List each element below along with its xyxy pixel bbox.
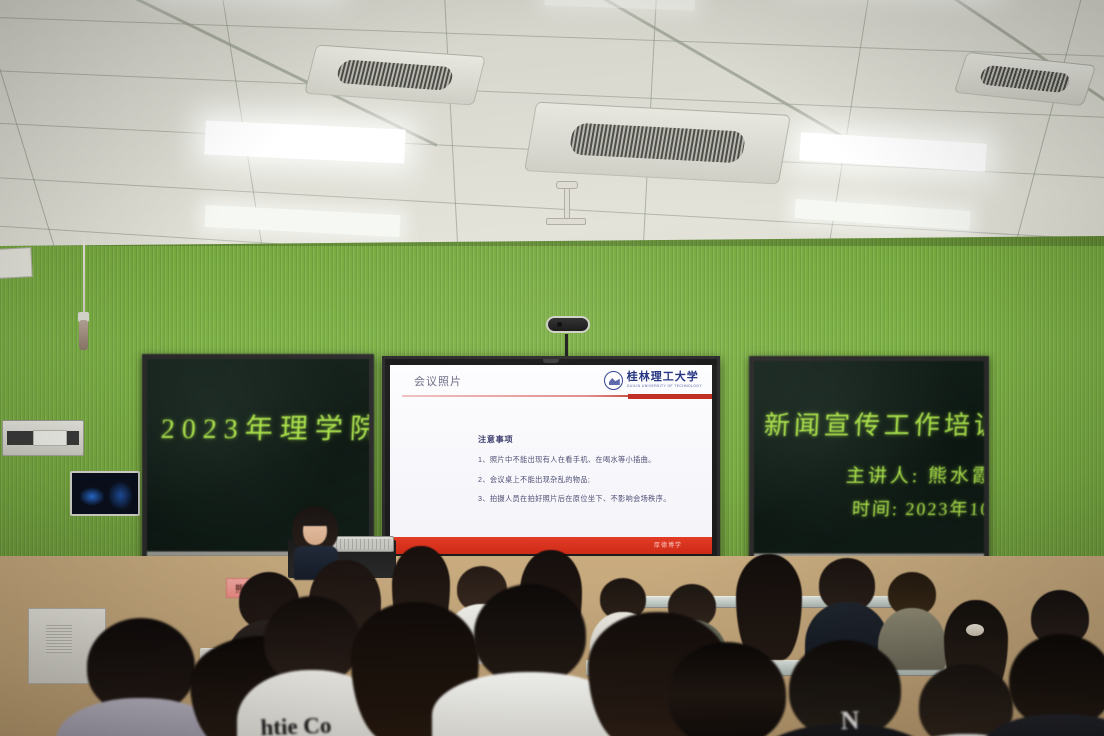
university-name-cn: 桂林理工大学	[627, 372, 702, 383]
hanging-microphone	[79, 320, 88, 350]
classroom-scene: 2023年理学院 会议照片 桂林理工大学 GUILIN UNIVERSITY O…	[0, 0, 1104, 736]
ceiling-light-panel	[795, 199, 971, 230]
tshirt-graphic-text: htie Co	[260, 713, 332, 736]
wall-camera	[546, 316, 590, 333]
ceiling-air-vent	[954, 52, 1097, 106]
projector-mount-pole	[564, 188, 570, 222]
camera-lens-icon	[557, 322, 562, 327]
blackboard-right-line1: 新闻宣传工作培训	[763, 405, 989, 442]
camera-stem	[565, 334, 568, 356]
tshirt-graphic-text: N	[840, 706, 860, 736]
hanging-microphone-cable	[83, 236, 85, 320]
monitor-glow	[79, 487, 105, 505]
university-seal-icon	[604, 371, 623, 390]
blackboard-right: 新闻宣传工作培训 主讲人: 熊水霞老师 时间: 2023年10月24日	[749, 356, 989, 568]
slide-footer-motto: 厚德博学	[654, 540, 682, 549]
ceiling-light-panel	[799, 132, 986, 172]
cabinet-vent	[46, 625, 72, 653]
ceiling-light-panel	[205, 205, 401, 237]
blackboard-left-text: 2023年理学院	[160, 407, 374, 447]
head	[474, 584, 586, 684]
monitor-glow	[108, 481, 133, 510]
projector-mount-plate	[546, 218, 586, 225]
slide-notice-block: 注意事项 1、照片中不能出现有人在看手机、在喝水等小插曲。 2、会议桌上不能出现…	[478, 433, 712, 515]
audience-member	[452, 584, 608, 736]
notice-heading: 注意事项	[478, 433, 712, 445]
screen-sensor-icon	[543, 359, 559, 363]
notice-item: 3、拍摄人员在拍好照片后在原位坐下、不影响会场秩序。	[478, 495, 712, 504]
control-panel-label	[33, 430, 67, 446]
blackboard-right-line3: 时间: 2023年10月24日	[851, 495, 989, 521]
university-logo: 桂林理工大学 GUILIN UNIVERSITY OF TECHNOLOGY	[604, 371, 702, 390]
hair-tie	[966, 624, 984, 636]
audience-member	[996, 634, 1104, 736]
notice-item: 1、照片中不能出现有人在看手机、在喝水等小插曲。	[478, 456, 712, 465]
university-name-en: GUILIN UNIVERSITY OF TECHNOLOGY	[627, 385, 702, 388]
presentation-slide: 会议照片 桂林理工大学 GUILIN UNIVERSITY OF TECHNOL…	[390, 365, 712, 554]
wall-control-panel[interactable]	[2, 420, 84, 456]
wall-mini-monitor[interactable]	[70, 471, 140, 516]
presenter-fringe	[300, 513, 330, 526]
ceiling-ac-cassette	[524, 102, 791, 185]
projection-screen: 会议照片 桂林理工大学 GUILIN UNIVERSITY OF TECHNOL…	[382, 356, 720, 562]
ceiling-air-vent	[304, 44, 486, 105]
blackboard-right-line2: 主讲人: 熊水霞老师	[845, 461, 989, 488]
audience-member	[76, 618, 206, 736]
wall-notice-plate	[0, 247, 33, 279]
projector-mount-bracket	[556, 181, 578, 189]
slide-divider-accent	[628, 394, 712, 399]
ceiling-light-panel	[204, 120, 405, 163]
shoulders	[982, 714, 1104, 736]
slide-header-title: 会议照片	[414, 373, 462, 389]
head	[668, 642, 786, 736]
notice-item: 2、会议桌上不能出现杂乱的物品;	[478, 476, 712, 485]
